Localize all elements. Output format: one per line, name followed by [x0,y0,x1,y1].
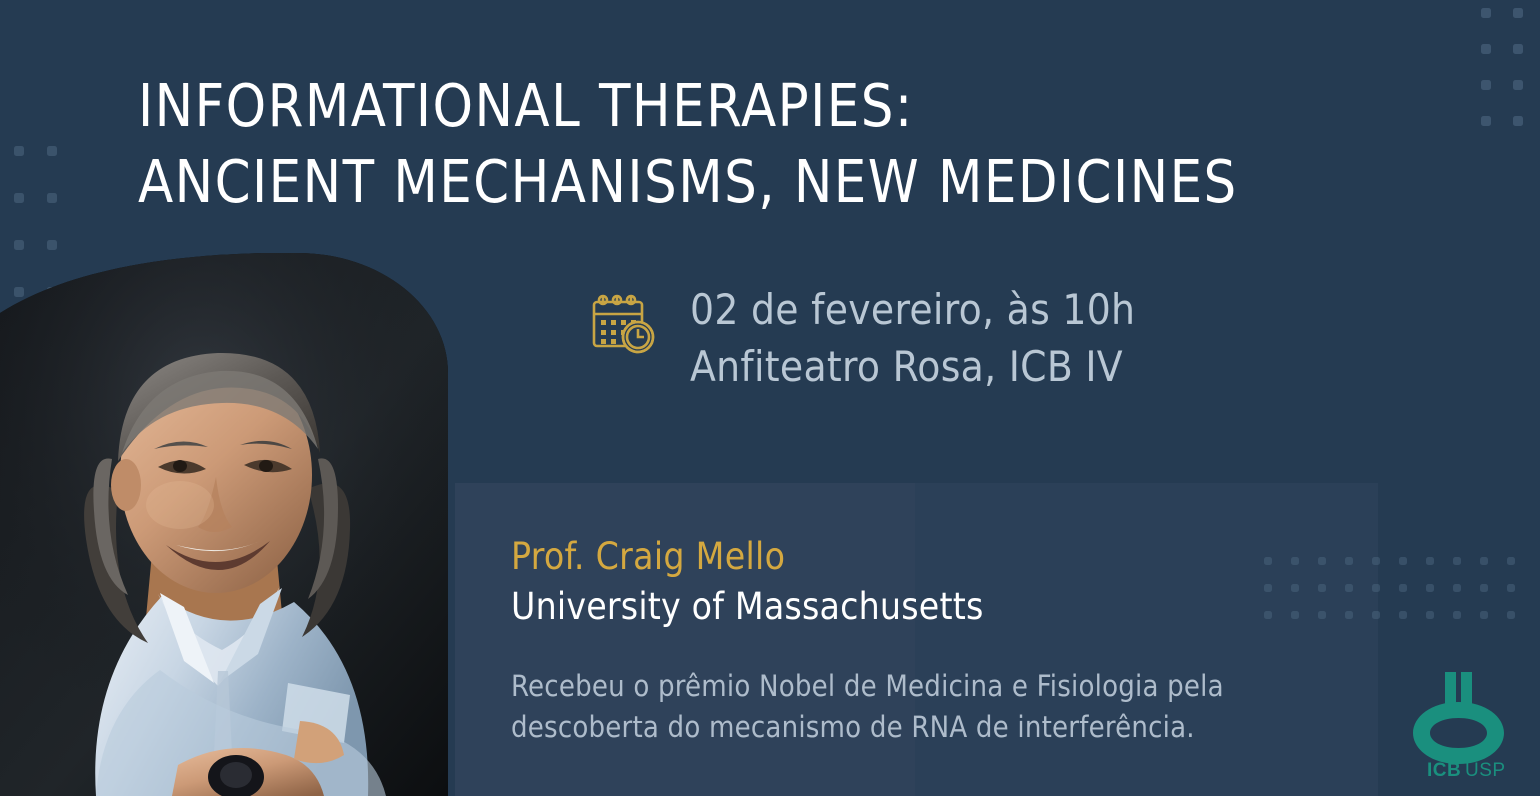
dot [1291,557,1299,565]
dot [1264,611,1272,619]
calendar-clock-icon [592,293,658,360]
logo-text-icb: ICB [1427,760,1461,780]
dot [1507,611,1515,619]
dot [1426,611,1434,619]
dot [14,193,24,203]
dot [1513,80,1523,90]
dot [47,240,57,250]
logo-text-usp: USP [1465,760,1506,780]
dot [1513,8,1523,18]
dot [1264,584,1272,592]
dot [1481,80,1491,90]
dot [1481,8,1491,18]
dot [1453,611,1461,619]
dot [14,146,24,156]
dot [1318,557,1326,565]
dot [1480,557,1488,565]
dot [1426,584,1434,592]
dot [1345,584,1353,592]
event-datetime-block: 02 de fevereiro, às 10h Anfiteatro Rosa,… [592,281,1135,395]
event-poster: INFORMATIONAL THERAPIES: ANCIENT MECHANI… [0,0,1540,796]
poster-title: INFORMATIONAL THERAPIES: ANCIENT MECHANI… [138,68,1399,220]
dot [1318,584,1326,592]
dot [1345,557,1353,565]
dot [14,240,24,250]
dot [1372,557,1380,565]
dot [1372,611,1380,619]
dot [1507,557,1515,565]
speaker-affiliation: University of Massachusetts [511,585,984,629]
speaker-description: Recebeu o prêmio Nobel de Medicina e Fis… [511,666,1361,748]
dot [47,193,57,203]
dot [1372,584,1380,592]
dot-grid-top-right [1481,8,1540,152]
speaker-photo [0,253,448,796]
dot [1513,44,1523,54]
icb-usp-logo: ICB USP [1405,668,1515,780]
dot [1399,557,1407,565]
dot [47,146,57,156]
speaker-name: Prof. Craig Mello [511,535,785,579]
dot [1481,116,1491,126]
lower-background-panel-inner [455,483,915,796]
dot [1399,611,1407,619]
speaker-photo-mask [0,253,448,796]
dot [1345,611,1353,619]
icb-usp-flask-logo-icon: ICB USP [1405,668,1515,780]
dot [1480,611,1488,619]
dot [1481,44,1491,54]
dot [1453,557,1461,565]
dot [1291,584,1299,592]
dot [1264,557,1272,565]
dot [1507,584,1515,592]
dot [1291,611,1299,619]
dot [1318,611,1326,619]
event-datetime-text: 02 de fevereiro, às 10h Anfiteatro Rosa,… [690,281,1135,395]
dot [1513,116,1523,126]
dot-grid-mid-right [1264,557,1534,638]
dot [1453,584,1461,592]
speaker-portrait-illustration [0,253,448,796]
dot [1480,584,1488,592]
dot [1426,557,1434,565]
dot [1399,584,1407,592]
